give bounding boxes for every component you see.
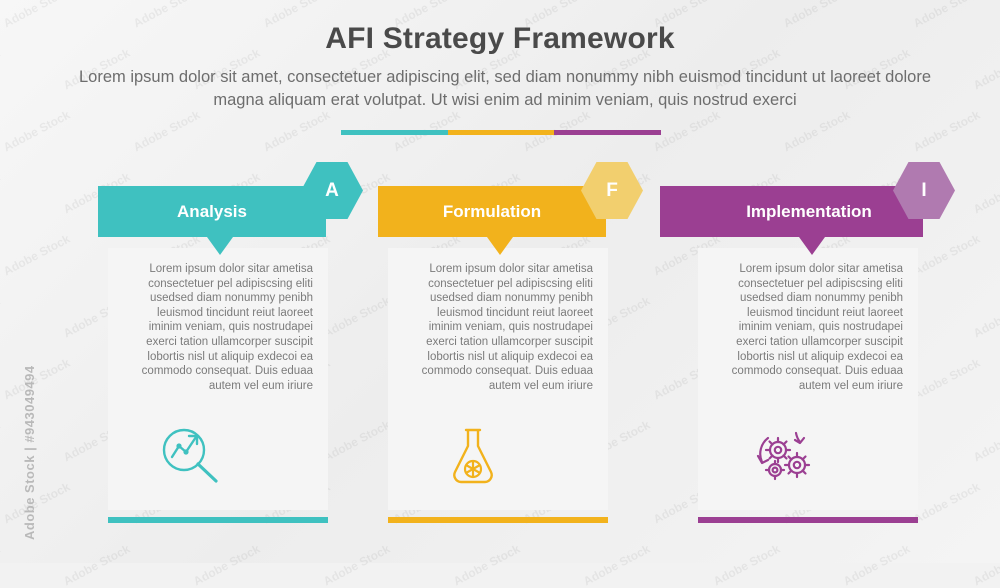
page-title: AFI Strategy Framework bbox=[0, 22, 1000, 56]
card-bottom-rule bbox=[388, 517, 608, 523]
card-title: Implementation bbox=[695, 186, 923, 237]
card-description: Lorem ipsum dolor sitar ametisa consecte… bbox=[713, 262, 903, 393]
card-badge-letter: A bbox=[301, 162, 363, 219]
card-badge: F bbox=[581, 162, 643, 219]
card-implementation[interactable]: Implementation I Lorem ipsum dolor sitar… bbox=[660, 186, 943, 523]
watermark-tile: Adobe Stock bbox=[61, 542, 132, 588]
watermark-tile: Adobe Stock bbox=[841, 542, 912, 588]
flask-icon bbox=[438, 424, 508, 486]
analytics-magnifier-icon bbox=[158, 424, 228, 486]
watermark-tile: Adobe Stock bbox=[781, 108, 852, 155]
watermark-tile: Adobe Stock bbox=[191, 542, 262, 588]
accent-rule-segment-teal bbox=[341, 130, 448, 135]
watermark-tile: Adobe Stock bbox=[971, 542, 1000, 588]
watermark-tile: Adobe Stock bbox=[971, 170, 1000, 217]
page-subtitle: Lorem ipsum dolor sit amet, consectetuer… bbox=[70, 66, 940, 112]
card-badge-letter: F bbox=[581, 162, 643, 219]
gears-cycle-icon bbox=[748, 424, 818, 486]
card-header-tail bbox=[487, 237, 513, 255]
card-title: Formulation bbox=[378, 186, 606, 237]
card-title: Analysis bbox=[98, 186, 326, 237]
watermark-tile: Adobe Stock bbox=[321, 542, 392, 588]
watermark-tile: Adobe Stock bbox=[711, 542, 782, 588]
watermark-tile: Adobe Stock bbox=[651, 108, 722, 155]
watermark-tile: Adobe Stock bbox=[971, 418, 1000, 465]
card-formulation[interactable]: Formulation F Lorem ipsum dolor sitar am… bbox=[383, 186, 666, 523]
card-description: Lorem ipsum dolor sitar ametisa consecte… bbox=[403, 262, 593, 393]
card-badge: I bbox=[893, 162, 955, 219]
watermark-tile: Adobe Stock bbox=[131, 108, 202, 155]
card-badge: A bbox=[301, 162, 363, 219]
card-badge-letter: I bbox=[893, 162, 955, 219]
stock-watermark-text: Adobe Stock | #943049494 bbox=[22, 365, 37, 540]
card-description: Lorem ipsum dolor sitar ametisa consecte… bbox=[123, 262, 313, 393]
accent-rule-segment-purple bbox=[554, 130, 661, 135]
card-header-tail bbox=[207, 237, 233, 255]
accent-rule-segment-amber bbox=[448, 130, 555, 135]
watermark-tile: Adobe Stock bbox=[261, 108, 332, 155]
watermark-tile: Adobe Stock bbox=[911, 108, 982, 155]
watermark-tile: Adobe Stock bbox=[451, 542, 522, 588]
card-analysis[interactable]: Analysis A Lorem ipsum dolor sitar ameti… bbox=[103, 186, 386, 523]
card-header-tail bbox=[799, 237, 825, 255]
watermark-tile: Adobe Stock bbox=[581, 542, 652, 588]
card-bottom-rule bbox=[698, 517, 918, 523]
accent-rule bbox=[341, 130, 661, 135]
watermark-tile: Adobe Stock bbox=[971, 294, 1000, 341]
infographic-canvas: Adobe StockAdobe StockAdobe StockAdobe S… bbox=[0, 0, 1000, 563]
stock-watermark-sidebar: Adobe Stock | #943049494 bbox=[0, 0, 34, 563]
card-bottom-rule bbox=[108, 517, 328, 523]
